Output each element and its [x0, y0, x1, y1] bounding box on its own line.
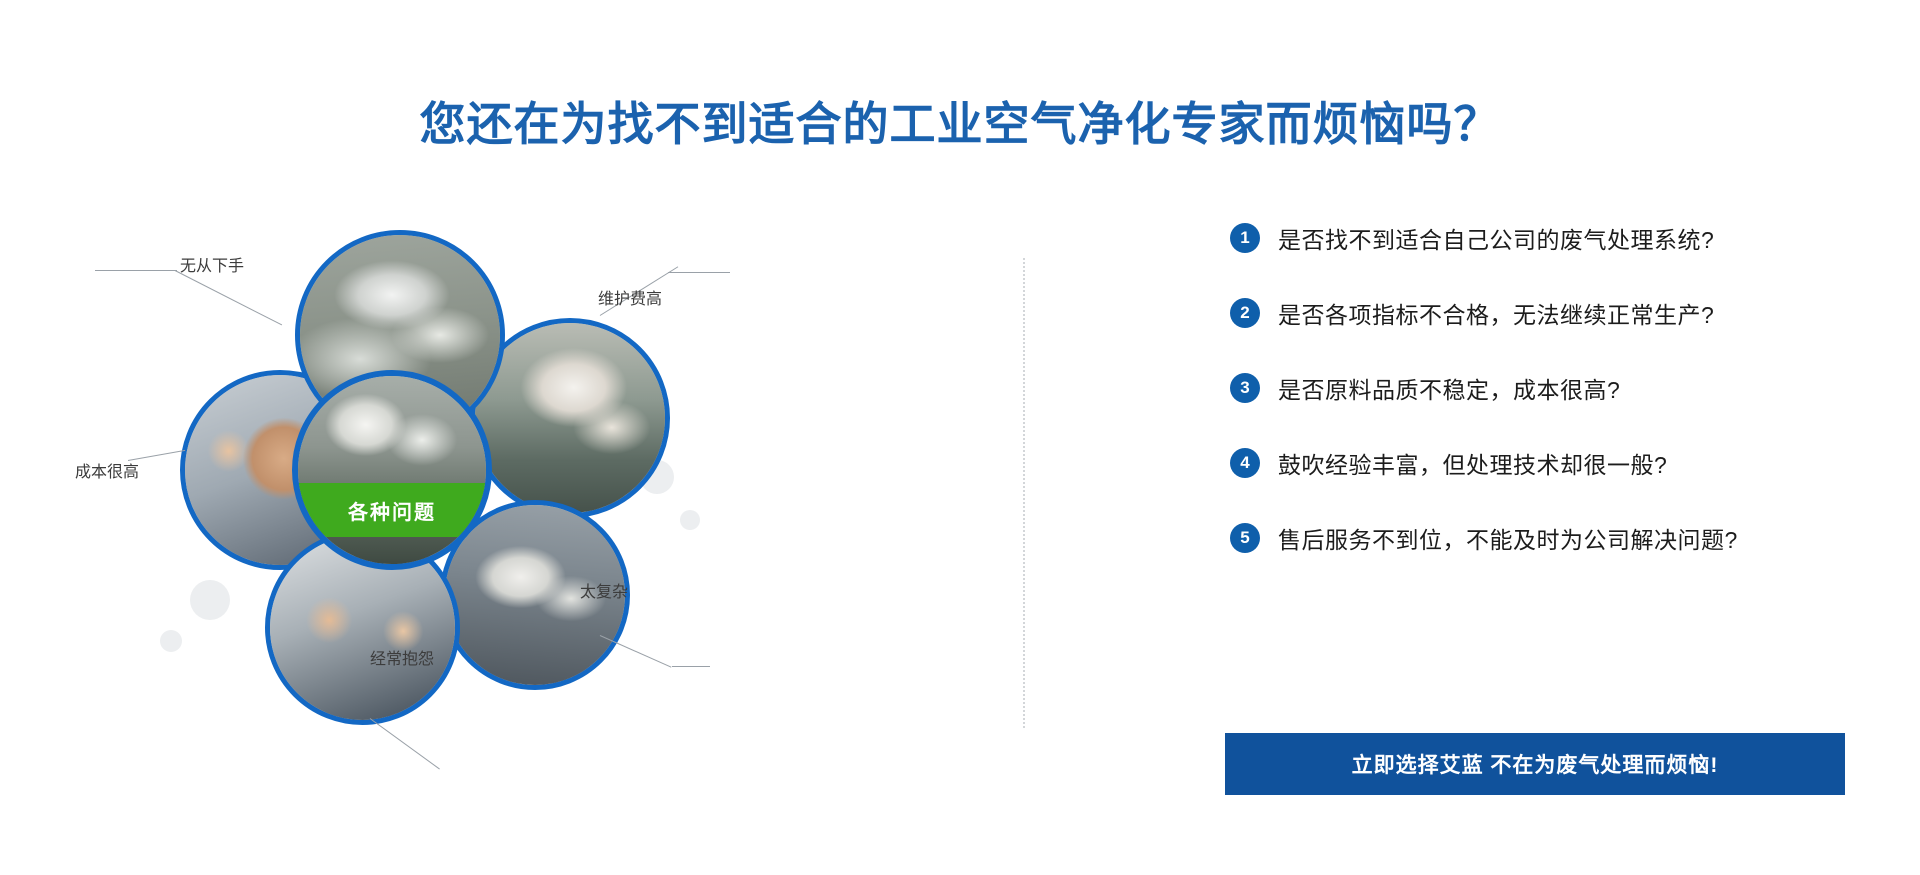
center-badge-label: 各种问题	[348, 496, 436, 525]
item-text: 鼓吹经验丰富，但处理技术却很一般?	[1278, 446, 1667, 480]
problem-infographic: 各种问题 无从下手 维护费高 成本很高 太复杂 经常抱怨	[40, 210, 1020, 850]
item-number-badge: 5	[1230, 523, 1260, 553]
item-text: 是否找不到适合自己公司的废气处理系统?	[1278, 221, 1714, 255]
item-text: 是否各项指标不合格，无法继续正常生产?	[1278, 296, 1714, 330]
cta-label: 立即选择艾蓝 不在为废气处理而烦恼!	[1352, 749, 1719, 779]
promo-page: 您还在为找不到适合的工业空气净化专家而烦恼吗？	[0, 0, 1920, 875]
page-title: 您还在为找不到适合的工业空气净化专家而烦恼吗？	[0, 88, 1920, 154]
leader-line-complain	[370, 718, 440, 769]
item-number-badge: 1	[1230, 223, 1260, 253]
decorative-bubble	[160, 630, 182, 652]
vertical-divider	[1023, 258, 1025, 728]
item-text: 是否原料品质不稳定，成本很高?	[1278, 371, 1620, 405]
decorative-bubble	[190, 580, 230, 620]
item-number-badge: 4	[1230, 448, 1260, 478]
leader-line-no-idea-h	[95, 270, 177, 271]
question-list: 1 是否找不到适合自己公司的废气处理系统? 2 是否各项指标不合格，无法继续正常…	[1230, 218, 1890, 593]
leader-line-too-complex-h	[672, 666, 710, 667]
label-no-idea: 无从下手	[180, 252, 244, 276]
leader-line-maintenance-h	[668, 272, 730, 273]
item-number-badge: 3	[1230, 373, 1260, 403]
list-item: 3 是否原料品质不稳定，成本很高?	[1230, 368, 1890, 408]
leader-line-no-idea	[175, 270, 282, 325]
label-maintenance: 维护费高	[598, 285, 662, 309]
list-item: 5 售后服务不到位，不能及时为公司解决问题?	[1230, 518, 1890, 558]
label-too-complex: 太复杂	[580, 578, 628, 602]
label-high-cost: 成本很高	[75, 458, 139, 482]
center-badge: 各种问题	[298, 483, 486, 537]
decorative-bubble	[680, 510, 700, 530]
list-item: 4 鼓吹经验丰富，但处理技术却很一般?	[1230, 443, 1890, 483]
petal-center-problems: 各种问题	[292, 370, 492, 570]
item-text: 售后服务不到位，不能及时为公司解决问题?	[1278, 521, 1738, 555]
item-number-badge: 2	[1230, 298, 1260, 328]
list-item: 2 是否各项指标不合格，无法继续正常生产?	[1230, 293, 1890, 333]
cta-button[interactable]: 立即选择艾蓝 不在为废气处理而烦恼!	[1225, 733, 1845, 795]
label-often-complain: 经常抱怨	[370, 645, 434, 669]
list-item: 1 是否找不到适合自己公司的废气处理系统?	[1230, 218, 1890, 258]
